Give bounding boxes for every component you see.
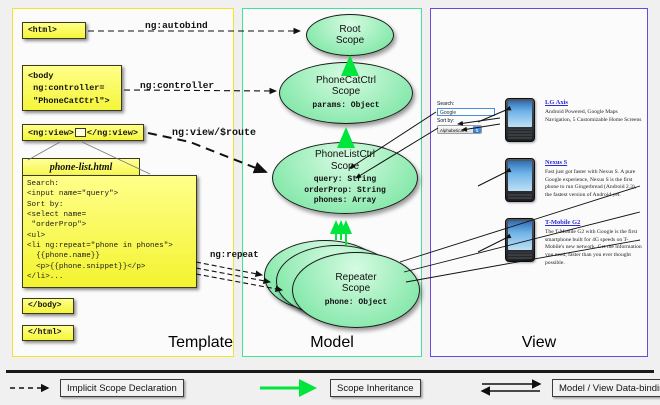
scope-repeater: Repeater Scope phone: Object [292, 252, 420, 328]
scope-root: Root Scope [306, 14, 394, 56]
green-arrow-icon [258, 379, 328, 397]
ngview-close-tag: </ng:view> [87, 128, 138, 138]
scope-phonelistctrl: PhoneListCtrl Scope query: String orderP… [272, 142, 418, 214]
scope-phonelistctrl-props: query: String orderProp: String phones: … [304, 175, 386, 206]
search-label: Search: [437, 101, 497, 108]
dashed-arrow-icon [8, 379, 58, 397]
scope-repeater-props: phone: Object [325, 298, 387, 308]
ngview-slot-icon [75, 128, 86, 137]
scope-phonecatctrl-title: PhoneCatCtrl Scope [316, 75, 376, 98]
search-input[interactable]: Google [437, 108, 495, 116]
column-view-label: View [431, 334, 647, 352]
phone-snippet: The T-Mobile G2 with Google is the first… [545, 229, 643, 268]
scope-repeater-stack: Repeater Scope phone: Object [264, 238, 420, 328]
legend-item-data-binding: Model / View Data-binding [478, 379, 550, 397]
double-arrow-icon [478, 379, 550, 397]
legend: Implicit Scope Declaration Scope Inherit… [0, 377, 660, 403]
scope-phonecatctrl: PhoneCatCtrl Scope params: Object [279, 62, 413, 124]
connector-label-autobind: ng:autobind [145, 20, 208, 31]
sort-select[interactable]: Alphabetical ⇅ [437, 125, 482, 134]
column-model-label: Model [243, 334, 421, 352]
connector-label-repeat: ng:repeat [210, 250, 259, 260]
phone-list-item[interactable]: Nexus S Fast just got faster with Nexus … [505, 158, 660, 200]
legend-label-data-binding: Model / View Data-binding [552, 379, 660, 397]
phone-thumbnail-icon [505, 158, 535, 202]
legend-item-scope-inheritance: Scope Inheritance [258, 379, 328, 397]
scope-phonecatctrl-props: params: Object [312, 101, 379, 111]
phone-name-link[interactable]: T-Mobile G2 [545, 218, 660, 227]
sort-select-value: Alphabetical [440, 128, 464, 133]
diagram-canvas: Template <html> <body ng:controller= "Ph… [0, 0, 660, 405]
phone-list-item[interactable]: LG Axis Android Powered, Google Maps Nav… [505, 98, 660, 124]
scope-root-title: Root Scope [336, 24, 364, 47]
phone-list-note: phone-list.html Search: <input name="que… [22, 158, 197, 290]
phone-snippet: Android Powered, Google Maps Navigation,… [545, 109, 643, 124]
phone-list-item[interactable]: T-Mobile G2 The T-Mobile G2 with Google … [505, 218, 660, 268]
search-sort-widget: Search: Google Sort by: Alphabetical ⇅ [437, 101, 497, 134]
phone-name-link[interactable]: Nexus S [545, 158, 660, 167]
phone-thumbnail-icon [505, 218, 535, 262]
code-box-html-open: <html> [22, 22, 86, 39]
code-box-body-open: <body ng:controller= "PhoneCatCtrl"> [22, 65, 122, 111]
scope-phonelistctrl-title: PhoneListCtrl Scope [315, 149, 375, 172]
scope-repeater-title: Repeater Scope [335, 272, 376, 295]
phone-thumbnail-icon [505, 98, 535, 142]
code-box-body-close: </body> [22, 298, 74, 314]
chevron-updown-icon: ⇅ [473, 126, 481, 133]
legend-divider [6, 370, 654, 373]
phone-list-note-title: phone-list.html [22, 158, 140, 176]
sort-label: Sort by: [437, 118, 497, 125]
legend-label-scope-inheritance: Scope Inheritance [330, 379, 421, 397]
ngview-open-tag: <ng:view> [28, 128, 74, 138]
connector-label-controller: ng:controller [140, 80, 214, 91]
legend-label-implicit-scope: Implicit Scope Declaration [60, 379, 184, 397]
phone-list-note-code: Search: <input name="query"> Sort by: <s… [22, 175, 197, 288]
code-box-html-close: </html> [22, 325, 74, 341]
legend-item-implicit-scope: Implicit Scope Declaration [8, 379, 58, 397]
phone-snippet: Fast just got faster with Nexus S. A pur… [545, 169, 643, 200]
connector-label-ngview-route: ng:view/$route [172, 128, 256, 139]
code-box-ngview: <ng:view></ng:view> [22, 124, 144, 141]
phone-name-link[interactable]: LG Axis [545, 98, 660, 107]
